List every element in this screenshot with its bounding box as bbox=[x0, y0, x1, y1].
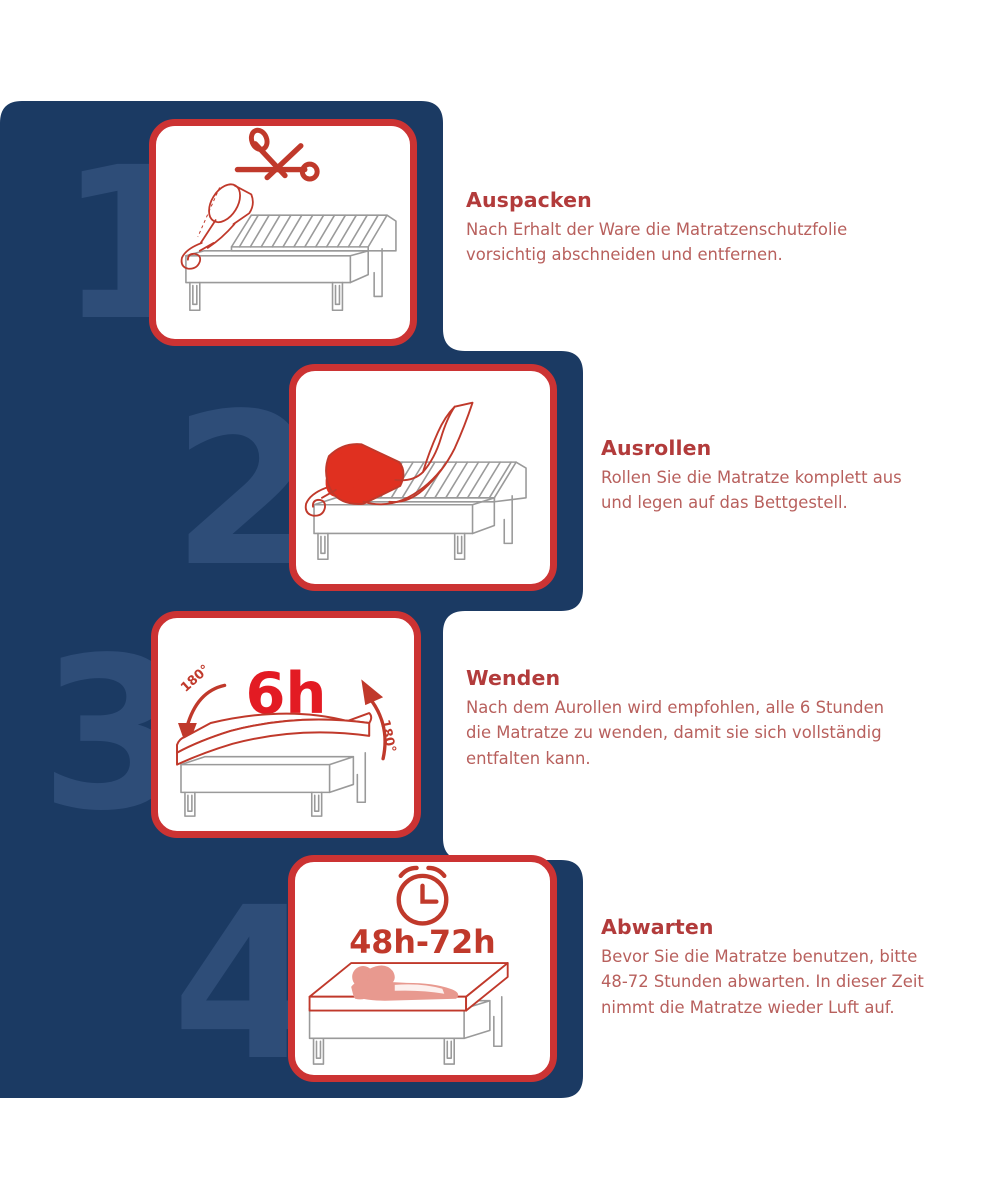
infographic-canvas: 1 2 3 4 bbox=[0, 0, 1000, 1200]
step-text-4: Abwarten Bevor Sie die Matratze benutzen… bbox=[601, 915, 961, 1020]
step-body-3: Nach dem Aurollen wird empfohlen, alle 6… bbox=[466, 695, 936, 771]
step-body-4: Bevor Sie die Matratze benutzen, bitte 4… bbox=[601, 944, 961, 1020]
unroll-illustration bbox=[296, 371, 550, 584]
step-title-4: Abwarten bbox=[601, 915, 961, 939]
step-title-3: Wenden bbox=[466, 666, 936, 690]
step-text-2: Ausrollen Rollen Sie die Matratze komple… bbox=[601, 436, 981, 516]
illustration-card-step-2 bbox=[289, 364, 557, 591]
illustration-card-step-1 bbox=[149, 119, 417, 346]
flip-left-angle-label: 180° bbox=[178, 662, 213, 695]
alarm-clock-icon bbox=[399, 868, 447, 923]
step-title-1: Auspacken bbox=[466, 188, 886, 212]
wait-duration-label: 48h-72h bbox=[349, 925, 495, 961]
step-text-1: Auspacken Nach Erhalt der Ware die Matra… bbox=[466, 188, 886, 268]
illustration-card-step-3: 6h 180° 180° bbox=[151, 611, 421, 838]
step-body-2: Rollen Sie die Matratze komplett aus und… bbox=[601, 465, 981, 516]
flip-illustration: 6h 180° 180° bbox=[158, 618, 414, 831]
step-text-3: Wenden Nach dem Aurollen wird empfohlen,… bbox=[466, 666, 936, 771]
wait-illustration: 48h-72h bbox=[295, 862, 550, 1075]
step-body-1: Nach Erhalt der Ware die Matratzenschutz… bbox=[466, 217, 886, 268]
flip-right-angle-label: 180° bbox=[377, 718, 399, 754]
illustration-card-step-4: 48h-72h bbox=[288, 855, 557, 1082]
step-title-2: Ausrollen bbox=[601, 436, 981, 460]
unpack-illustration bbox=[156, 126, 410, 339]
